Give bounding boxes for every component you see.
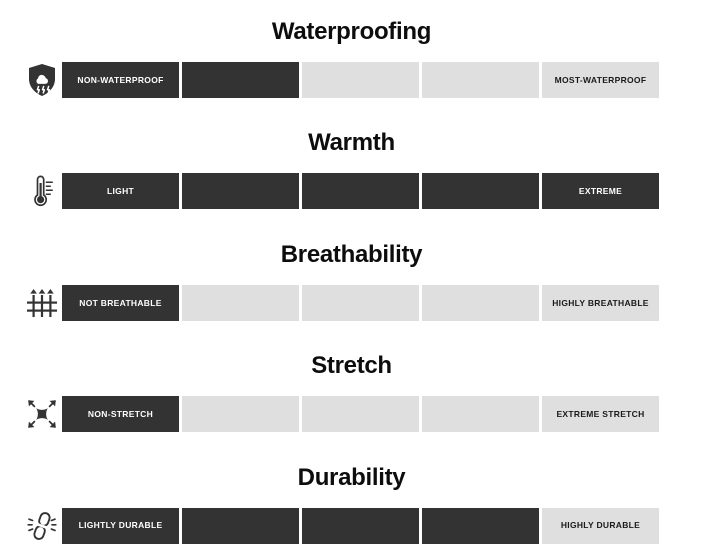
scale-segment[interactable] bbox=[422, 396, 539, 432]
scale-segment[interactable] bbox=[182, 508, 299, 544]
scale-segment[interactable]: EXTREME STRETCH bbox=[542, 396, 659, 432]
scale-segment[interactable] bbox=[422, 62, 539, 98]
scale-segment[interactable] bbox=[302, 285, 419, 321]
segment-label: EXTREME STRETCH bbox=[556, 410, 644, 419]
attribute-scale: NON-STRETCH EXTREME STRETCH bbox=[0, 396, 703, 432]
segment-label: NOT BREATHABLE bbox=[79, 299, 161, 308]
scale-segment[interactable] bbox=[302, 62, 419, 98]
scale-segment[interactable] bbox=[182, 396, 299, 432]
scale-segment[interactable]: NON-STRETCH bbox=[62, 396, 179, 432]
segment-label: HIGHLY BREATHABLE bbox=[552, 299, 649, 308]
airflow-mesh-icon bbox=[22, 285, 62, 321]
scale-segment[interactable] bbox=[422, 285, 539, 321]
attribute-row-breathability: Breathability NOT BREATHABLE bbox=[0, 223, 703, 334]
scale-segment[interactable]: HIGHLY BREATHABLE bbox=[542, 285, 659, 321]
scale-segment[interactable] bbox=[302, 508, 419, 544]
scale-segment[interactable] bbox=[182, 285, 299, 321]
segment-label: MOST-WATERPROOF bbox=[555, 76, 647, 85]
segment-track: LIGHT EXTREME bbox=[62, 173, 659, 209]
scale-segment[interactable]: HIGHLY DURABLE bbox=[542, 508, 659, 544]
attribute-scale: NOT BREATHABLE HIGHLY BREATHABLE bbox=[0, 285, 703, 321]
scale-segment[interactable] bbox=[422, 173, 539, 209]
scale-segment[interactable]: NON-WATERPROOF bbox=[62, 62, 179, 98]
attribute-scale: NON-WATERPROOF MOST-WATERPROOF bbox=[0, 62, 703, 98]
attribute-row-waterproofing: Waterproofing NON-WATERPROOF MOST-WATERP… bbox=[0, 0, 703, 111]
segment-label: EXTREME bbox=[579, 187, 622, 196]
expand-arrows-icon bbox=[22, 396, 62, 432]
attribute-scale: LIGHTLY DURABLE HIGHLY DURABLE bbox=[0, 508, 703, 544]
scale-segment[interactable] bbox=[182, 62, 299, 98]
segment-label: NON-STRETCH bbox=[88, 410, 153, 419]
attribute-scale: LIGHT EXTREME bbox=[0, 173, 703, 209]
attribute-title: Breathability bbox=[0, 223, 703, 269]
breaking-chain-icon bbox=[22, 508, 62, 544]
thermometer-icon bbox=[22, 173, 62, 209]
segment-track: NON-STRETCH EXTREME STRETCH bbox=[62, 396, 659, 432]
segment-track: NOT BREATHABLE HIGHLY BREATHABLE bbox=[62, 285, 659, 321]
scale-segment[interactable]: LIGHT bbox=[62, 173, 179, 209]
scale-segment[interactable]: NOT BREATHABLE bbox=[62, 285, 179, 321]
attribute-title: Stretch bbox=[0, 334, 703, 380]
attribute-title: Waterproofing bbox=[0, 0, 703, 46]
scale-segment[interactable] bbox=[182, 173, 299, 209]
scale-segment[interactable]: LIGHTLY DURABLE bbox=[62, 508, 179, 544]
attribute-row-stretch: Stretch NON-STRETCH bbox=[0, 334, 703, 445]
segment-label: LIGHTLY DURABLE bbox=[79, 521, 163, 530]
attribute-row-warmth: Warmth LIGHT EXTREME bbox=[0, 111, 703, 222]
scale-segment[interactable] bbox=[422, 508, 539, 544]
segment-track: NON-WATERPROOF MOST-WATERPROOF bbox=[62, 62, 659, 98]
attribute-title: Warmth bbox=[0, 111, 703, 157]
segment-label: HIGHLY DURABLE bbox=[561, 521, 640, 530]
scale-segment[interactable] bbox=[302, 396, 419, 432]
attribute-title: Durability bbox=[0, 446, 703, 492]
segment-label: LIGHT bbox=[107, 187, 134, 196]
scale-segment[interactable]: MOST-WATERPROOF bbox=[542, 62, 659, 98]
scale-segment[interactable]: EXTREME bbox=[542, 173, 659, 209]
attribute-row-durability: Durability LIGHTLY DU bbox=[0, 446, 703, 557]
rain-shield-icon bbox=[22, 62, 62, 98]
segment-track: LIGHTLY DURABLE HIGHLY DURABLE bbox=[62, 508, 659, 544]
segment-label: NON-WATERPROOF bbox=[77, 76, 163, 85]
fabric-attributes-chart: Waterproofing NON-WATERPROOF MOST-WATERP… bbox=[0, 0, 703, 557]
scale-segment[interactable] bbox=[302, 173, 419, 209]
